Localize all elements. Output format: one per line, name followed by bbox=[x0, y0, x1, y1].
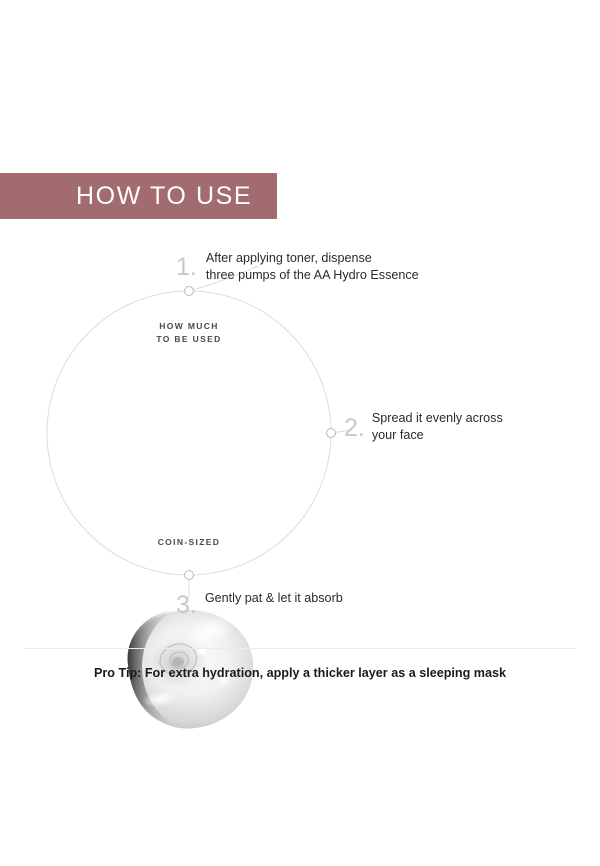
step-item-3: 3. Gently pat & let it absorb bbox=[176, 590, 425, 615]
step-number-2: 2. bbox=[344, 416, 365, 441]
ring-label-how-much: HOW MUCH TO BE USED bbox=[129, 320, 249, 345]
infographic-page: HOW TO USE bbox=[0, 0, 600, 866]
step-item-2: 2. Spread it evenly across your face bbox=[344, 410, 537, 444]
step-text-2: Spread it evenly across your face bbox=[372, 410, 537, 444]
step-number-1: 1. bbox=[176, 255, 197, 280]
ring-label-coin-sized: COIN-SIZED bbox=[129, 536, 249, 549]
step-number-3: 3. bbox=[176, 593, 197, 618]
node-marker-step-1 bbox=[185, 287, 194, 296]
how-to-use-banner: HOW TO USE bbox=[0, 173, 277, 219]
footer-divider bbox=[24, 648, 576, 649]
node-marker-step-3 bbox=[185, 571, 194, 580]
node-marker-step-2 bbox=[327, 429, 336, 438]
step-item-1: 1. After applying toner, dispense three … bbox=[176, 250, 468, 284]
pro-tip-text: Pro Tip: For extra hydration, apply a th… bbox=[0, 666, 600, 680]
step-text-1: After applying toner, dispense three pum… bbox=[206, 250, 468, 284]
page-title: HOW TO USE bbox=[76, 182, 252, 211]
step-text-3: Gently pat & let it absorb bbox=[205, 590, 425, 607]
